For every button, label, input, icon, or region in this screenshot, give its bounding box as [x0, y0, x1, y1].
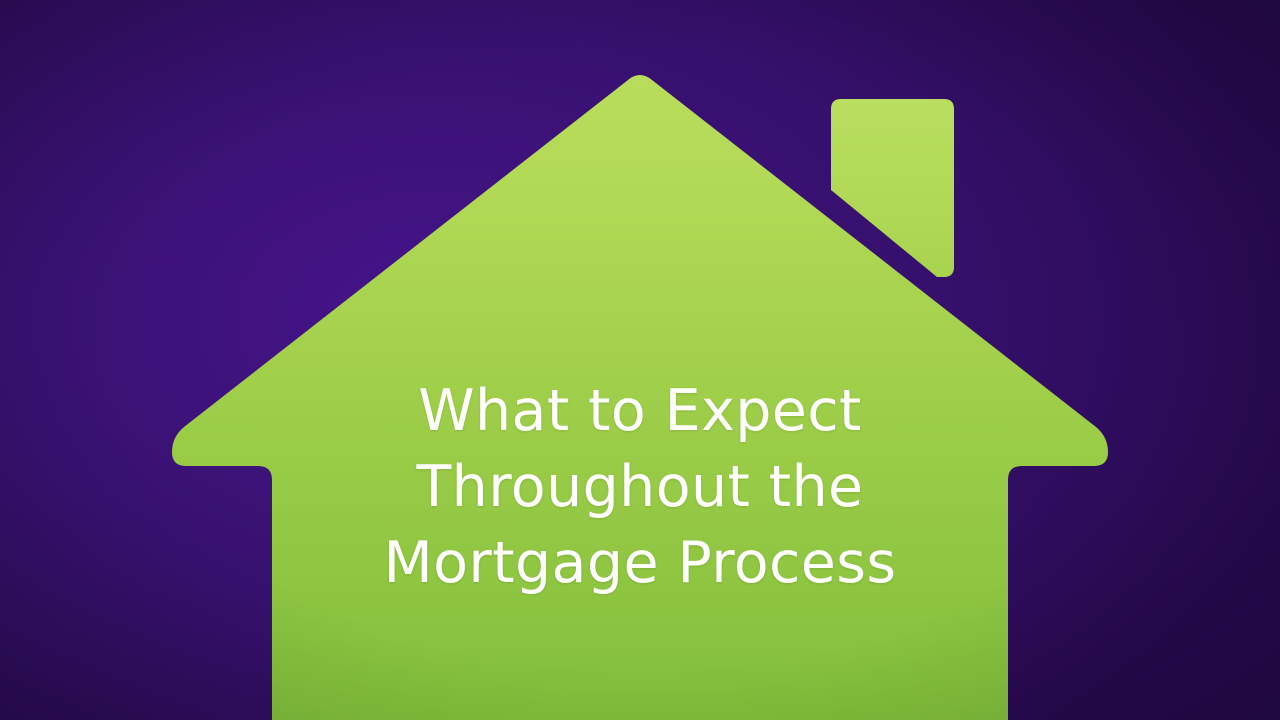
house-illustration: [0, 0, 1280, 720]
title-slide: What to Expect Throughout the Mortgage P…: [0, 0, 1280, 720]
house-body-shape: [172, 75, 1108, 720]
